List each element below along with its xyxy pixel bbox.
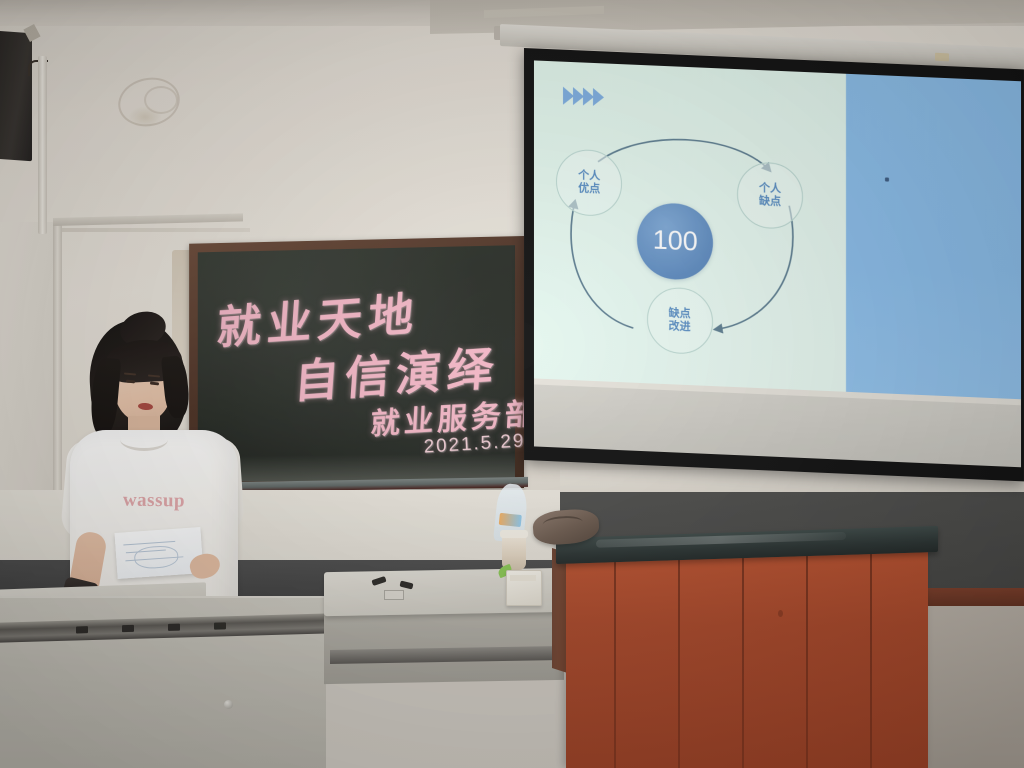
cycle-node-weaknesses-line1: 个人 <box>759 182 781 196</box>
podium <box>566 548 928 768</box>
slide-speck <box>885 177 889 181</box>
paper-line <box>123 541 175 546</box>
slide-content: 个人 优点 个人 缺点 缺点 改进 <box>534 60 1021 399</box>
carton-tab <box>510 575 536 581</box>
wall-display-icon <box>0 31 32 162</box>
projector-screen: 个人 优点 个人 缺点 缺点 改进 <box>524 48 1024 481</box>
bag-fold <box>542 515 583 532</box>
cabinet-knob[interactable] <box>224 700 233 709</box>
cycle-node-improve-line1: 缺点 <box>669 307 691 321</box>
chalk-headline-line2: 自信演绎 <box>292 332 501 412</box>
screen-housing-button[interactable] <box>935 53 949 62</box>
podium-groove <box>678 548 680 768</box>
podium-groove <box>806 548 808 768</box>
chalk-organizer: 就业服务部 <box>370 388 540 443</box>
cycle-node-improve-line2: 改进 <box>669 320 691 334</box>
rail-hole <box>122 625 134 632</box>
cycle-node-strengths-line1: 个人 <box>578 169 600 183</box>
cycle-diagram: 个人 优点 个人 缺点 缺点 改进 <box>544 118 856 379</box>
shirt-collar <box>120 428 168 451</box>
slide-blue-panel <box>846 74 1021 400</box>
classroom-scene: 就业天地 自信演绎 就业服务部 2021.5.29 <box>0 0 1024 768</box>
desk-label <box>384 590 404 600</box>
rail-hole <box>168 624 180 631</box>
rail-hole <box>214 622 226 629</box>
podium-groove <box>742 548 744 768</box>
podium-mark <box>778 610 783 617</box>
wall-conduit <box>38 56 47 234</box>
floor <box>928 606 1024 768</box>
cycle-node-weaknesses-line2: 缺点 <box>759 195 781 209</box>
wall-smudge <box>128 106 162 128</box>
projector-screen-surface: 个人 优点 个人 缺点 缺点 改进 <box>534 60 1021 467</box>
screen-blank-area <box>534 384 1021 467</box>
paper-carton[interactable] <box>506 570 542 606</box>
podium-groove <box>614 548 616 768</box>
chevron-right-icon <box>593 88 604 106</box>
drink-cup-lid <box>500 530 528 538</box>
rail-hole <box>76 626 88 633</box>
cycle-node-strengths-line2: 优点 <box>578 182 600 196</box>
desk-middle-body <box>324 604 564 684</box>
bag-label <box>499 513 522 527</box>
chevron-arrows <box>563 87 602 107</box>
shirt-graphic-text: wassup <box>104 489 204 513</box>
podium-groove <box>870 548 872 768</box>
